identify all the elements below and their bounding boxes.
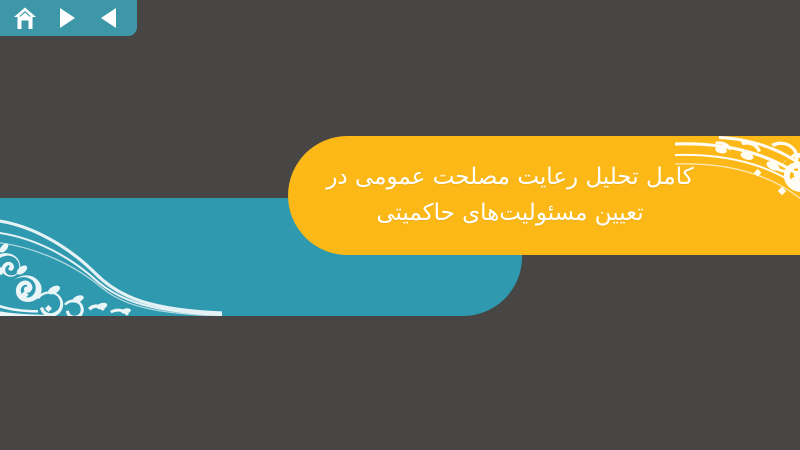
- next-button[interactable]: [54, 5, 80, 31]
- triangle-right-icon: [57, 7, 77, 29]
- slide-canvas: کامل تحلیل رعایت مصلحت عمومی در تعیین مس…: [0, 0, 800, 450]
- home-button[interactable]: [12, 5, 38, 31]
- teal-arabesque-ornament: [0, 198, 222, 316]
- home-icon: [13, 7, 37, 30]
- navigation-bar: [0, 0, 137, 36]
- orange-banner: [288, 136, 800, 255]
- triangle-left-icon: [99, 7, 119, 29]
- orange-arabesque-ornament: [675, 136, 800, 255]
- previous-button[interactable]: [96, 5, 122, 31]
